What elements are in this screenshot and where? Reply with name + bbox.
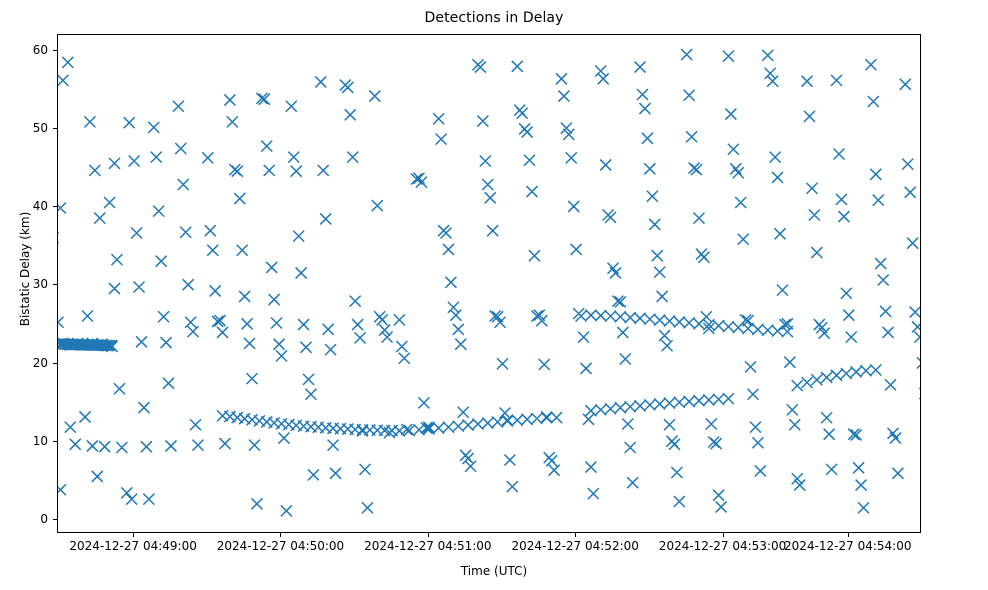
x-tick-mark bbox=[280, 533, 281, 537]
x-tick-mark bbox=[575, 533, 576, 537]
matplotlib-figure: Detections in Delay 0102030405060 2024-1… bbox=[0, 0, 988, 590]
x-tick-label: 2024-12-27 04:50:00 bbox=[217, 540, 344, 552]
x-tick-mark bbox=[428, 533, 429, 537]
x-axis-label: Time (UTC) bbox=[0, 564, 988, 578]
x-tick-label: 2024-12-27 04:54:00 bbox=[784, 540, 911, 552]
x-tick-label: 2024-12-27 04:53:00 bbox=[659, 540, 786, 552]
x-tick-label: 2024-12-27 04:51:00 bbox=[364, 540, 491, 552]
x-tick-label: 2024-12-27 04:52:00 bbox=[511, 540, 638, 552]
x-tick-label: 2024-12-27 04:49:00 bbox=[69, 540, 196, 552]
x-tick-mark bbox=[133, 533, 134, 537]
x-axis-ticks: 2024-12-27 04:49:002024-12-27 04:50:0020… bbox=[0, 0, 988, 590]
y-axis-label: Bistatic Delay (km) bbox=[18, 149, 32, 389]
x-tick-mark bbox=[723, 533, 724, 537]
x-tick-mark bbox=[848, 533, 849, 537]
